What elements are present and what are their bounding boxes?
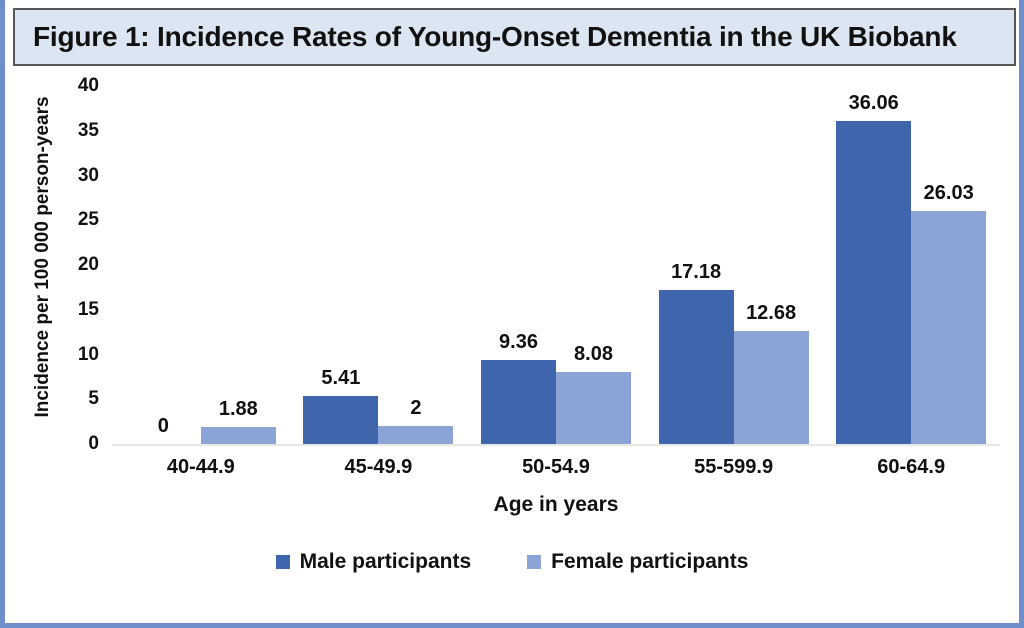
x-axis-tick-label: 50-54.9	[467, 456, 645, 479]
bar-value-label: 36.06	[828, 92, 919, 115]
bar-value-label: 26.03	[903, 182, 994, 205]
x-axis-tick-labels: 40-44.945-49.950-54.955-599.960-64.9	[112, 456, 1000, 488]
legend-swatch-icon	[276, 555, 290, 569]
bar-value-label: 12.68	[726, 302, 817, 325]
x-axis-tick-label: 60-64.9	[822, 456, 1000, 479]
bar-female[interactable]	[734, 331, 809, 444]
bar-value-label: 8.08	[548, 343, 639, 366]
legend-swatch-icon	[527, 555, 541, 569]
bar-male[interactable]	[659, 290, 734, 444]
x-axis-line	[112, 444, 1000, 446]
bar-chart: Incidence per 100 000 person-years 40353…	[5, 68, 1019, 623]
bar-female[interactable]	[201, 427, 276, 444]
x-axis-tick-label: 40-44.9	[112, 456, 290, 479]
y-axis-tick-label: 40	[57, 75, 99, 97]
chart-legend: Male participantsFemale participants	[5, 550, 1019, 574]
bar-group: 9.368.08	[481, 86, 631, 444]
x-axis-title: Age in years	[112, 493, 1000, 517]
bar-group: 01.88	[126, 86, 276, 444]
y-axis-tick-label: 25	[57, 209, 99, 231]
y-axis-tick-label: 35	[57, 120, 99, 142]
bar-group: 17.1812.68	[659, 86, 809, 444]
bar-value-label: 5.41	[295, 367, 386, 390]
bar-value-label: 17.18	[651, 261, 742, 284]
bar-male[interactable]	[481, 360, 556, 444]
plot-area: 01.885.4129.368.0817.1812.6836.0626.03	[112, 86, 1000, 446]
y-axis-tick-labels: 4035302520151050	[57, 86, 99, 446]
y-axis-tick-label: 10	[57, 344, 99, 366]
bar-female[interactable]	[556, 372, 631, 444]
bar-value-label: 1.88	[193, 398, 284, 421]
bar-female[interactable]	[378, 426, 453, 444]
bar-group: 36.0626.03	[836, 86, 986, 444]
bar-male[interactable]	[303, 396, 378, 444]
y-axis-tick-label: 30	[57, 165, 99, 187]
figure-container: Figure 1: Incidence Rates of Young-Onset…	[0, 0, 1024, 628]
bar-value-label: 2	[370, 397, 461, 420]
y-axis-tick-label: 5	[57, 388, 99, 410]
page-title: Figure 1: Incidence Rates of Young-Onset…	[33, 21, 957, 53]
bar-male[interactable]	[836, 121, 911, 444]
y-axis-tick-label: 0	[57, 433, 99, 455]
legend-item[interactable]: Male participants	[276, 550, 472, 574]
legend-item[interactable]: Female participants	[527, 550, 748, 574]
legend-label: Male participants	[300, 550, 472, 574]
y-axis-tick-label: 20	[57, 254, 99, 276]
x-axis-tick-label: 55-599.9	[645, 456, 823, 479]
x-axis-tick-label: 45-49.9	[290, 456, 468, 479]
bar-group: 5.412	[303, 86, 453, 444]
y-axis-title: Incidence per 100 000 person-years	[32, 67, 54, 447]
y-axis-tick-label: 15	[57, 299, 99, 321]
figure-title-banner: Figure 1: Incidence Rates of Young-Onset…	[13, 8, 1016, 66]
legend-label: Female participants	[551, 550, 748, 574]
bar-female[interactable]	[911, 211, 986, 444]
